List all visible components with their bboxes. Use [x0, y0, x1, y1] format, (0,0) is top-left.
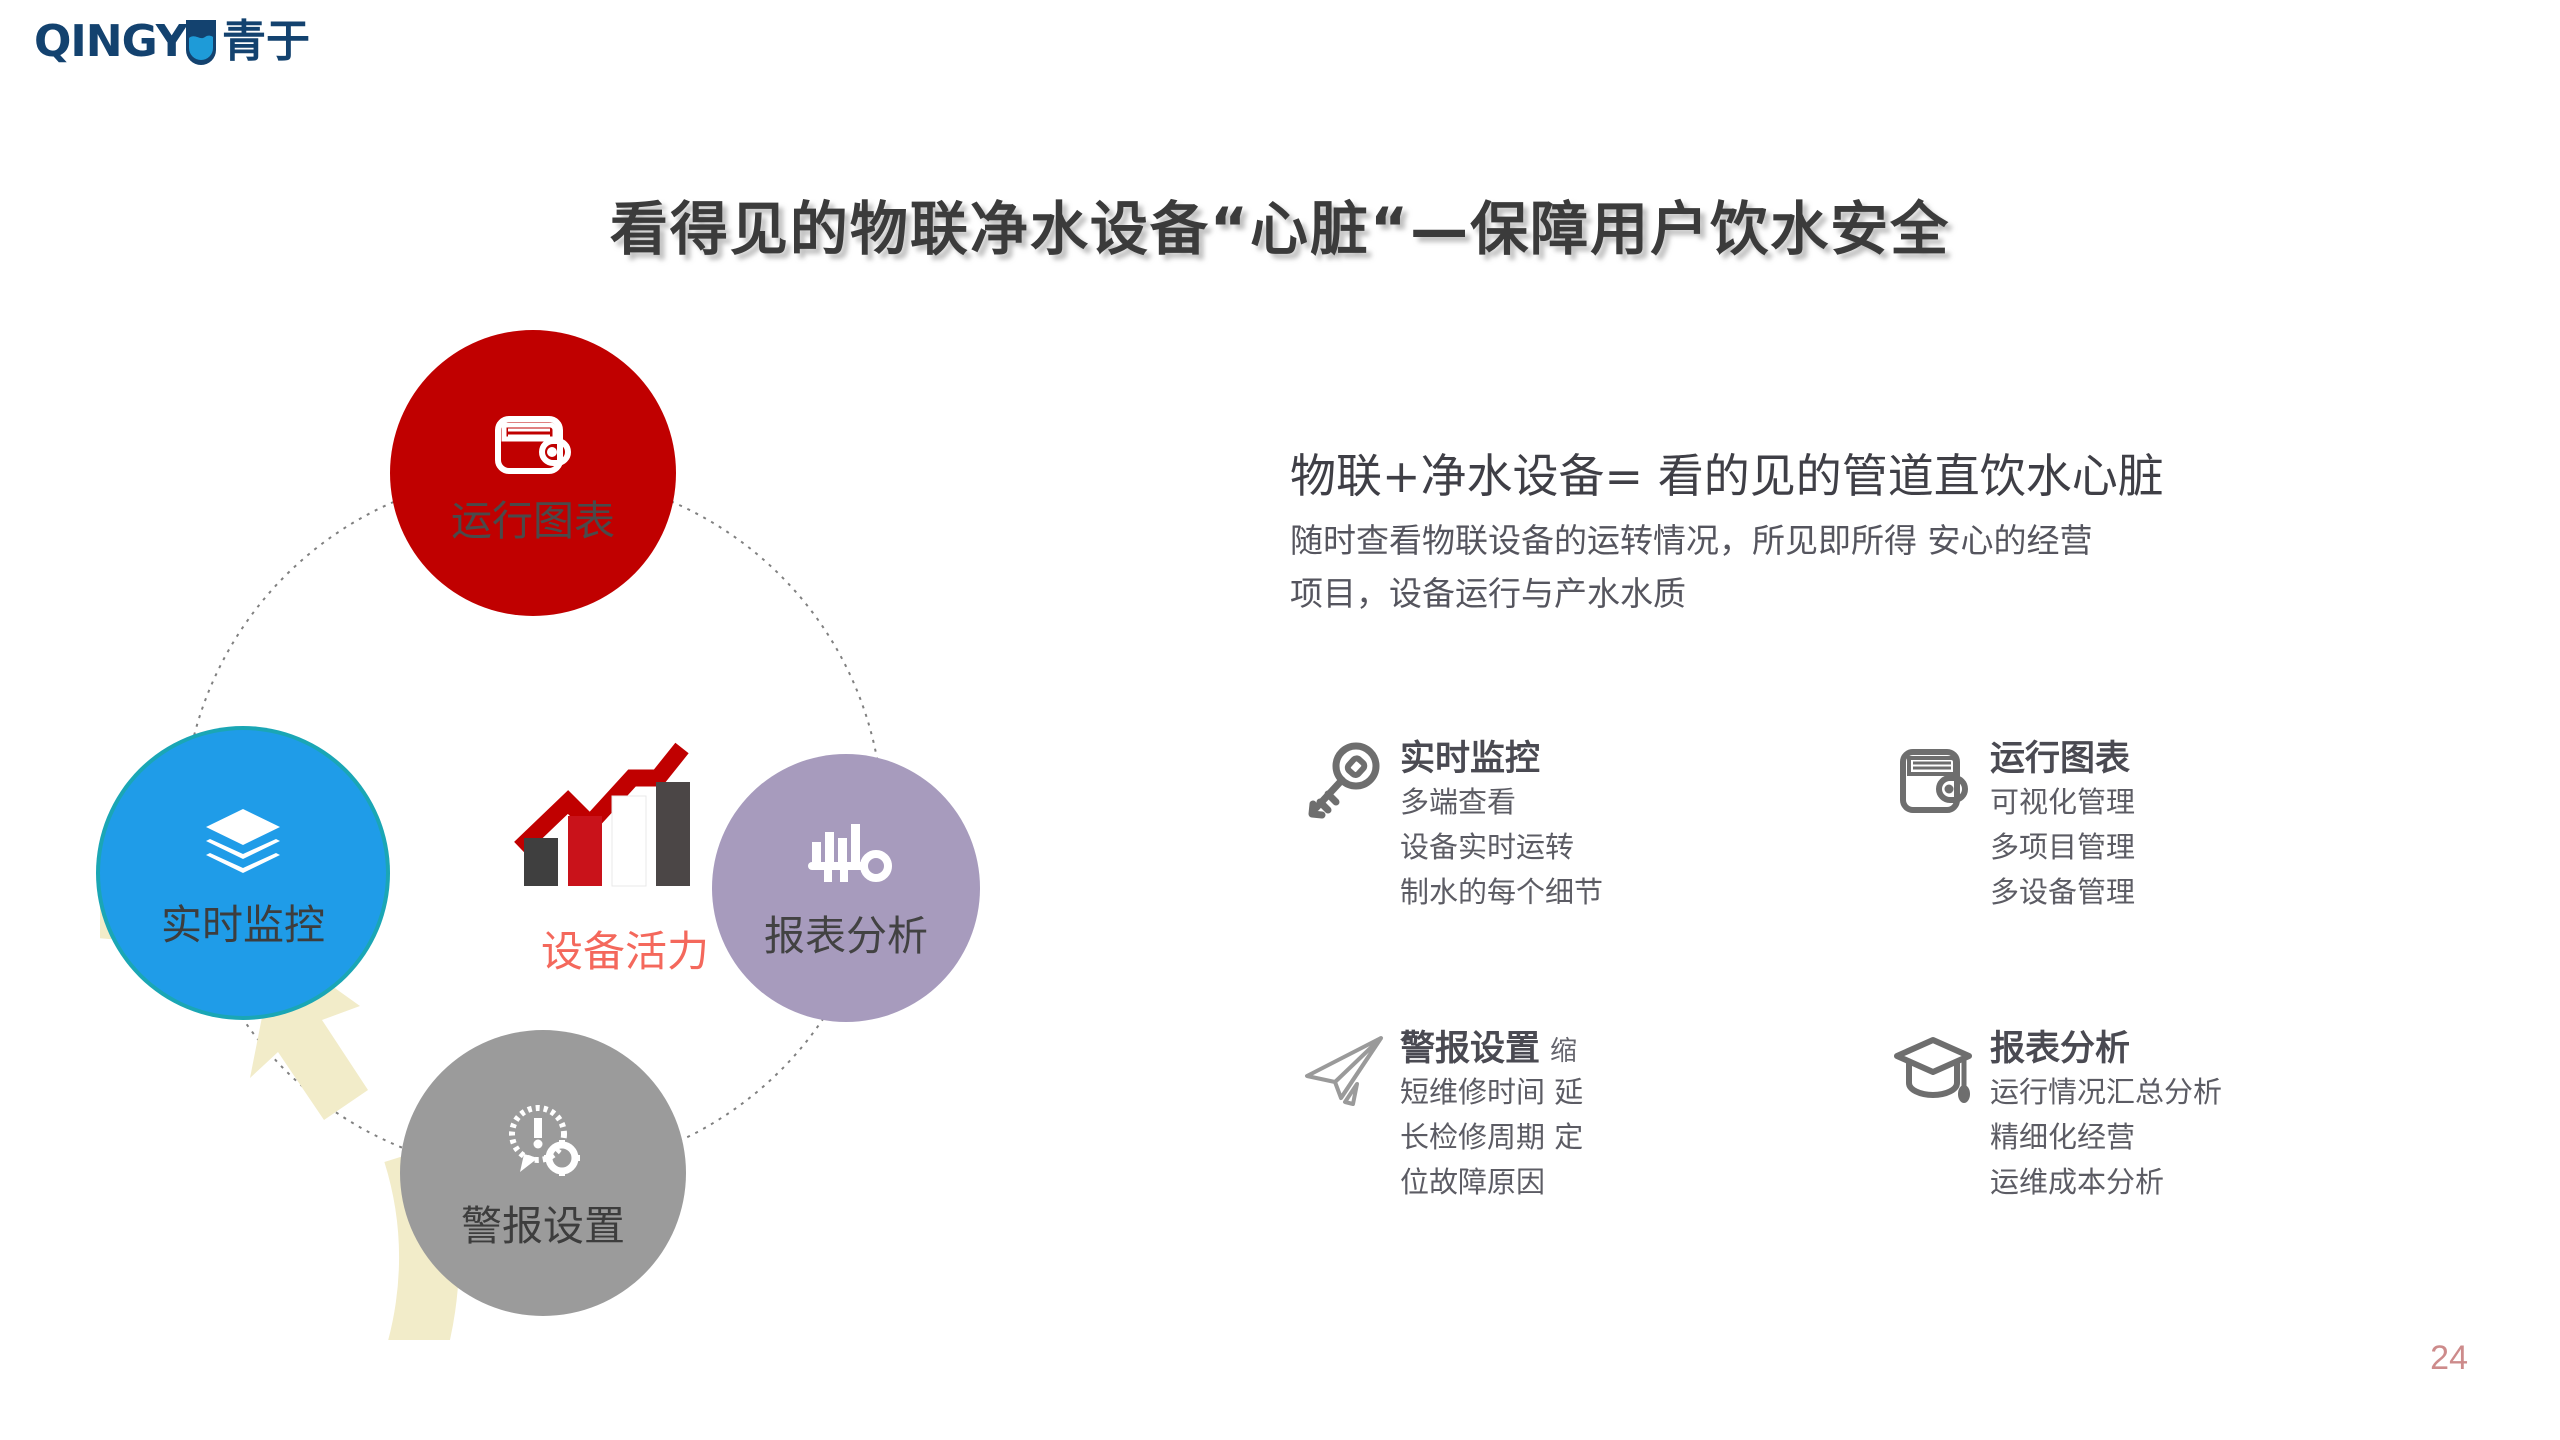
- cycle-node-label: 警报设置: [461, 1206, 625, 1247]
- cycle-node-realtime-monitor[interactable]: 实时监控: [100, 730, 386, 1016]
- paper-plane-icon: [1301, 1032, 1389, 1112]
- feature-list-item: 运维成本分析: [1990, 1160, 2222, 1205]
- lead-headline: 物联+净水设备= 看的见的管道直饮水心脏: [1290, 448, 2470, 506]
- lead-paragraph: 随时查看物联设备的运转情况，所见即所得 安心的经营项目，设备运行与产水水质: [1290, 514, 2100, 621]
- page-number: 24: [2430, 1339, 2468, 1378]
- key-icon: [1308, 742, 1382, 828]
- feature-list-item: 精细化经营: [1990, 1115, 2222, 1160]
- cycle-node-operation-chart[interactable]: 运行图表: [390, 330, 676, 616]
- feature-list-item: 可视化管理: [1990, 780, 2140, 825]
- chart-key-icon: [800, 820, 892, 896]
- graduation-cap-icon: [1893, 1032, 1977, 1112]
- feature-list-item: 位故障原因: [1400, 1160, 1583, 1205]
- logo-wordmark-icon: QINGY 青于: [34, 16, 334, 68]
- center-chart-label: 设备活力: [541, 918, 709, 979]
- feature-item-realtime-monitor[interactable]: 实时监控 多端查看 设备实时运转 制水的每个细节: [1290, 738, 1880, 1028]
- center-vitality-chart: 设备活力: [470, 720, 780, 1000]
- bar-chart-trend-icon: [510, 720, 740, 910]
- cycle-diagram: 运行图表 实时监控 报表分析: [100, 330, 1160, 1340]
- feature-icon-wrap: [1880, 1028, 1990, 1112]
- feature-body: 实时监控 多端查看 设备实时运转 制水的每个细节: [1400, 738, 1603, 915]
- feature-grid: 实时监控 多端查看 设备实时运转 制水的每个细节: [1290, 738, 2470, 1318]
- feature-list-item: 设备实时运转: [1400, 825, 1603, 870]
- content-column: 物联+净水设备= 看的见的管道直饮水心脏 随时查看物联设备的运转情况，所见即所得…: [1290, 448, 2470, 620]
- svg-text:青于: 青于: [222, 16, 310, 67]
- layers-stack-icon: [198, 801, 288, 879]
- feature-body: 报表分析 运行情况汇总分析 精细化经营 运维成本分析: [1990, 1028, 2222, 1205]
- feature-item-operation-chart[interactable]: 运行图表 可视化管理 多项目管理 多设备管理: [1880, 738, 2470, 1028]
- feature-list-item: 多设备管理: [1990, 870, 2140, 915]
- brand-logo: QINGY 青于 QINGYU 青于: [34, 16, 334, 68]
- feature-title: 实时监控: [1400, 738, 1603, 780]
- feature-body: 警报设置缩 短维修时间 延 长检修周期 定 位故障原因: [1400, 1028, 1583, 1205]
- feature-list-item: 运行情况汇总分析: [1990, 1070, 2222, 1115]
- feature-title: 报表分析: [1990, 1028, 2222, 1070]
- cycle-node-alarm-settings[interactable]: 警报设置: [400, 1030, 686, 1316]
- feature-title-extra: 缩: [1550, 1036, 1577, 1067]
- lead-block: 物联+净水设备= 看的见的管道直饮水心脏 随时查看物联设备的运转情况，所见即所得…: [1290, 448, 2470, 620]
- feature-list-item: 短维修时间 延: [1400, 1070, 1583, 1115]
- cycle-node-label: 实时监控: [161, 905, 325, 946]
- feature-title: 警报设置缩: [1400, 1028, 1583, 1070]
- alert-gear-icon: [498, 1100, 588, 1184]
- feature-item-alarm-settings[interactable]: 警报设置缩 短维修时间 延 长检修周期 定 位故障原因: [1290, 1028, 1880, 1318]
- feature-title: 运行图表: [1990, 738, 2140, 780]
- feature-icon-wrap: [1290, 738, 1400, 828]
- page-title: 看得见的物联净水设备“心脏“—保障用户饮水安全: [0, 182, 2560, 266]
- feature-list-item: 多端查看: [1400, 780, 1603, 825]
- feature-icon-wrap: [1290, 1028, 1400, 1112]
- cycle-node-label: 报表分析: [764, 916, 928, 957]
- wallet-icon: [490, 405, 576, 483]
- feature-icon-wrap: [1880, 738, 1990, 824]
- feature-list-item: 长检修周期 定: [1400, 1115, 1583, 1160]
- feature-item-report-analysis[interactable]: 报表分析 运行情况汇总分析 精细化经营 运维成本分析: [1880, 1028, 2470, 1318]
- cycle-node-label: 运行图表: [451, 501, 615, 542]
- feature-list-item: 多项目管理: [1990, 825, 2140, 870]
- feature-list-item: 制水的每个细节: [1400, 870, 1603, 915]
- wallet-icon: [1897, 742, 1973, 824]
- slide-canvas: QINGY 青于 QINGYU 青于 看得见的物联净水设备“心脏“—保障用户饮水…: [0, 0, 2560, 1440]
- svg-text:QINGY: QINGY: [34, 16, 189, 67]
- feature-body: 运行图表 可视化管理 多项目管理 多设备管理: [1990, 738, 2140, 915]
